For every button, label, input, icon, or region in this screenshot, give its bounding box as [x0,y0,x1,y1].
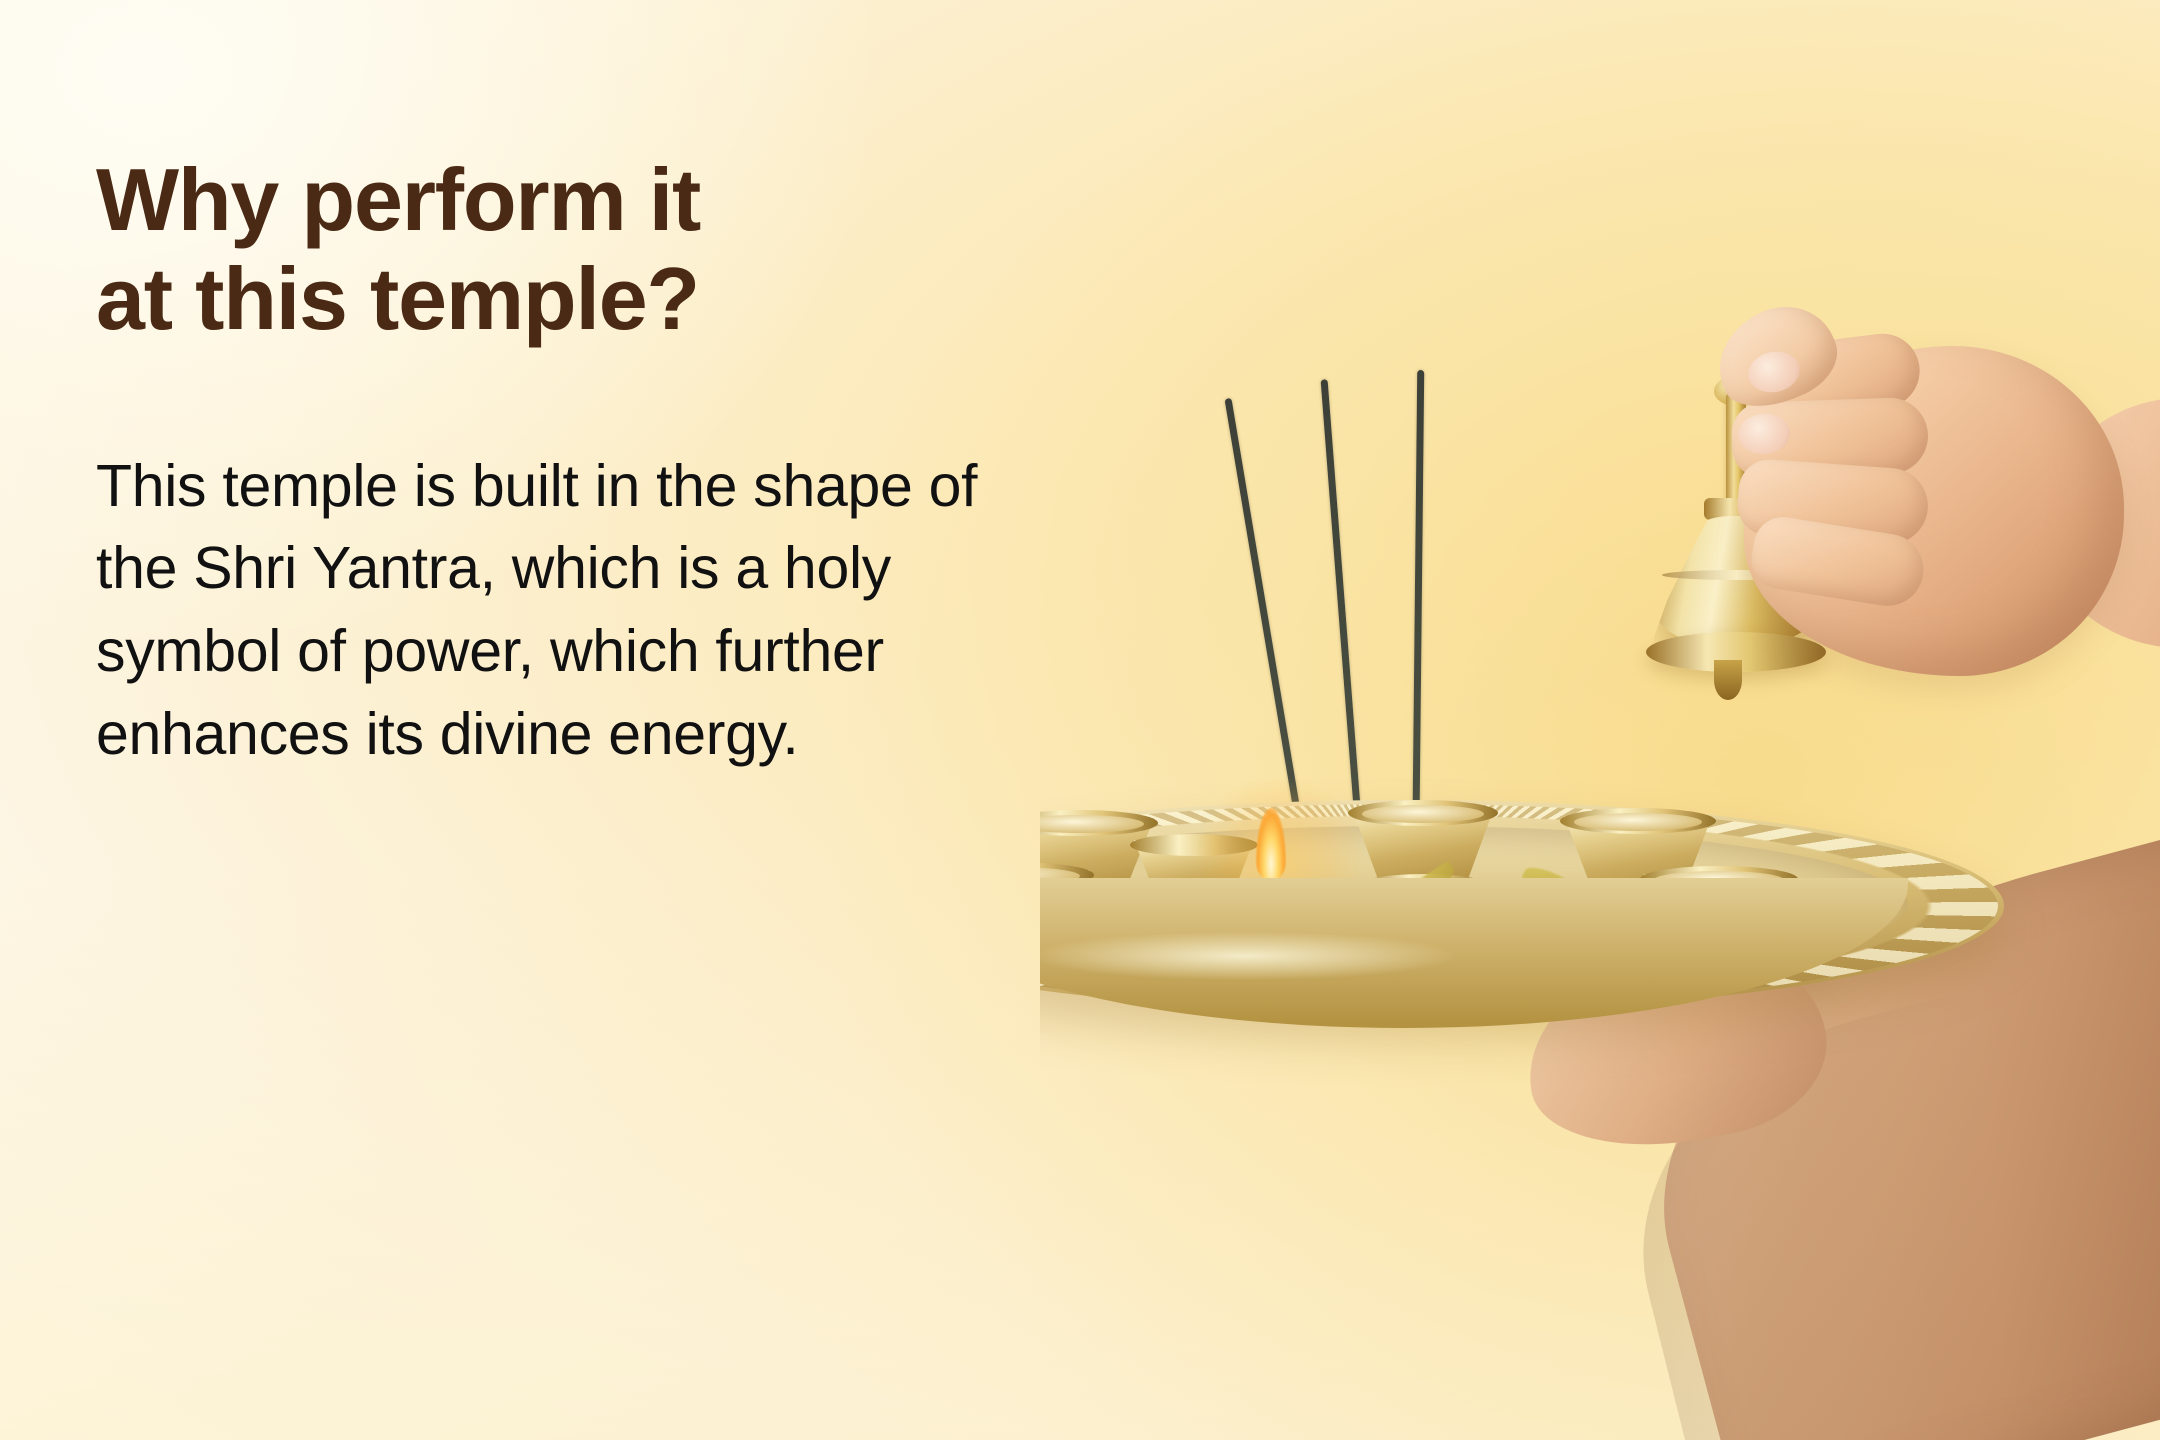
upper-hand [1652,288,2160,758]
slide-canvas: Why perform it at this temple? This temp… [0,0,2160,1440]
diya-inner [1574,813,1702,831]
thali-highlight [1040,932,1454,980]
page-title: Why perform it at this temple? [96,150,1106,349]
diya-inner [1362,805,1484,823]
text-column: Why perform it at this temple? This temp… [96,150,1106,775]
body-paragraph: This temple is built in the shape of the… [96,445,996,775]
puja-thali [1040,782,2004,1052]
puja-photo [1040,0,2160,1440]
